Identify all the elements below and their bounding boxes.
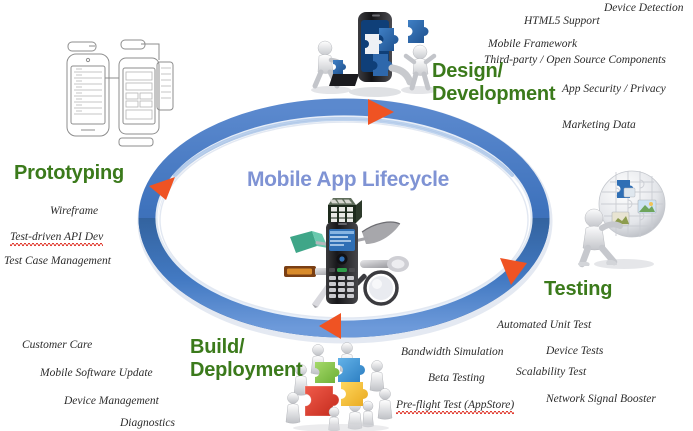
- keyword-test-case-management: Test Case Management: [4, 255, 111, 268]
- keyword-mobile-framework: Mobile Framework: [488, 38, 577, 51]
- puzzle-piece-small: [333, 60, 346, 74]
- keyword-device-management: Device Management: [64, 395, 159, 408]
- puzzle-piece-yellow: [341, 382, 368, 406]
- mobile-app-lifecycle-infographic: Mobile App Lifecycle: [0, 0, 693, 431]
- stage-heading-prototyping: Prototyping: [14, 162, 124, 185]
- keyword-device-detection: Device Detection: [604, 2, 684, 15]
- keyword-wireframe: Wireframe: [50, 205, 98, 218]
- keyword-device-tests: Device Tests: [546, 345, 603, 358]
- tool-feather-icon: [352, 222, 400, 244]
- swiss-army-phone-icon: [282, 196, 410, 308]
- page-title: Mobile App Lifecycle: [228, 168, 468, 192]
- stage-heading-build-deployment: Build/ Deployment: [190, 336, 302, 382]
- keyword-mobile-software-update: Mobile Software Update: [40, 367, 153, 380]
- tool-wrench-icon: [360, 256, 409, 272]
- keyword-bandwidth-simulation: Bandwidth Simulation: [401, 346, 504, 359]
- keyword-beta-testing: Beta Testing: [428, 372, 485, 385]
- keyword-customer-care: Customer Care: [22, 339, 92, 352]
- figure-carrying-puzzle-globe-icon: [572, 166, 676, 270]
- phone-body: [326, 222, 358, 304]
- phone-wireframe-sketch-icon: [45, 22, 175, 152]
- keyword-network-signal-booster: Network Signal Booster: [546, 393, 656, 406]
- keyword-scalability-test: Scalability Test: [516, 366, 586, 379]
- puzzle-smartphone-icon: [303, 2, 443, 98]
- keyword-html5-support: HTML5 Support: [524, 15, 600, 28]
- keyword-test-driven-api-dev: Test-driven API Dev: [10, 231, 103, 247]
- stage-heading-testing: Testing: [544, 278, 612, 301]
- keyword-diagnostics: Diagnostics: [120, 417, 175, 430]
- magnifier-icon: [354, 272, 397, 304]
- rubiks-cube-icon: [328, 198, 362, 223]
- keyword-third-party-open-source: Third-party / Open Source Components: [484, 54, 666, 67]
- puzzle-piece-right: [408, 20, 429, 43]
- keyword-app-security-privacy: App Security / Privacy: [562, 83, 666, 96]
- keyword-pre-flight-test: Pre-flight Test (AppStore): [396, 399, 514, 415]
- keyword-marketing-data: Marketing Data: [562, 119, 636, 132]
- keyword-automated-unit-test: Automated Unit Test: [497, 319, 591, 332]
